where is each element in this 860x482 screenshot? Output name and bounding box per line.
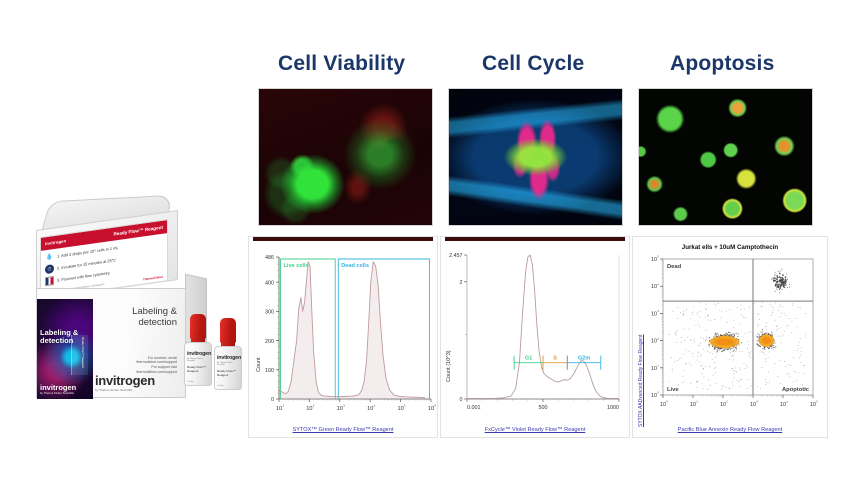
x-axis-label: Pacific Blue Annexin Ready Flow Reagent: [633, 427, 827, 433]
product-photo: invitrogen Ready Flow™ Reagent 💧 1. Add …: [18, 196, 246, 411]
svg-text:²: ²: [657, 336, 659, 341]
bottle-body: invitrogen by Thermo Fisher Scientific R…: [184, 342, 212, 386]
svg-text:10: 10: [337, 406, 343, 412]
svg-text:⁴: ⁴: [786, 400, 788, 405]
svg-text:10: 10: [651, 284, 657, 290]
svg-text:³: ³: [657, 309, 659, 314]
svg-text:G2m: G2m: [578, 356, 590, 362]
svg-text:300: 300: [265, 310, 274, 316]
svg-text:Dead cells: Dead cells: [341, 263, 369, 269]
svg-text:10: 10: [780, 402, 786, 408]
svg-text:0: 0: [271, 397, 274, 403]
dropper-icon: 💧: [45, 252, 54, 262]
bottle-brand: invitrogen: [187, 351, 209, 357]
viability-plot-canvas: 010020030040048610¹10²10³10⁴10⁵10⁶Live c…: [249, 237, 439, 439]
svg-text:Live cells: Live cells: [284, 263, 309, 269]
panel-title-cell-viability: Cell Viability: [278, 52, 405, 76]
box-cover-product-chip-text: Ready Flow™ Reagent: [81, 337, 85, 340]
svg-text:10: 10: [750, 402, 756, 408]
bottle-lot-text: Lot Exp: [217, 385, 224, 387]
svg-text:³: ³: [756, 400, 758, 405]
manufacturer-logo: ThermoFisher: [143, 275, 163, 282]
micrograph-edge-strip: [445, 237, 625, 241]
svg-text:10: 10: [660, 402, 666, 408]
svg-text:Live: Live: [667, 387, 679, 393]
clock-icon: ⏱: [45, 264, 54, 274]
box-front-brand-tagline: by Thermo Fisher Scientific: [95, 388, 155, 392]
svg-text:10: 10: [651, 311, 657, 317]
svg-text:²: ²: [726, 400, 728, 405]
svg-text:10: 10: [428, 406, 434, 412]
svg-text:10: 10: [367, 406, 373, 412]
svg-text:G1: G1: [525, 356, 532, 362]
svg-text:10: 10: [306, 406, 312, 412]
svg-text:⁵: ⁵: [404, 404, 406, 409]
plot-title: Jurkat ells + 10uM Camptothecin: [633, 244, 827, 251]
svg-text:500: 500: [539, 405, 548, 411]
bottle-brand-tagline: by Thermo Fisher Scientific: [187, 358, 209, 362]
svg-text:¹: ¹: [657, 364, 659, 369]
svg-text:10: 10: [397, 406, 403, 412]
bottle-cap: [220, 318, 236, 343]
svg-text:10: 10: [651, 366, 657, 372]
bottle-lot-text: Lot Exp: [187, 381, 194, 383]
svg-text:1000: 1000: [607, 405, 619, 411]
box-cover-product-chip: Ready Flow™ Reagent: [71, 335, 88, 375]
bottle-product-name: Ready Flow™ Reagent: [187, 365, 209, 373]
svg-text:0.001: 0.001: [467, 405, 481, 411]
svg-text:10: 10: [276, 406, 282, 412]
instruction-step-text: 3. Proceed with flow cytometry: [57, 271, 110, 283]
label-brand: invitrogen: [45, 238, 66, 246]
panel-title-apoptosis: Apoptosis: [670, 52, 774, 76]
bottle-brand: invitrogen: [217, 355, 239, 361]
cell-viability-histogram: Count 010020030040048610¹10²10³10⁴10⁵10⁶…: [248, 236, 438, 438]
cell-viability-micrograph: [258, 88, 433, 226]
y-axis-label: Count (10^3): [446, 350, 452, 382]
apoptosis-micrograph: [638, 88, 813, 226]
svg-text:⁶: ⁶: [434, 404, 436, 409]
box-cover-brand: invitrogen by Thermo Fisher Scientific: [40, 383, 76, 395]
svg-text:¹: ¹: [282, 404, 284, 409]
bottle-cap: [190, 314, 206, 339]
cell-cycle-micrograph: [448, 88, 623, 226]
apoptosis-dotplot: Jurkat ells + 10uM Camptothecin SYTOX AA…: [632, 236, 828, 438]
bottle-brand-tagline: by Thermo Fisher Scientific: [217, 362, 239, 366]
flow-cytometer-icon: [45, 276, 54, 286]
y-axis-label: SYTOX AADvanced Ready Flow Reagent: [638, 335, 644, 427]
y-axis-label: Count: [256, 357, 262, 372]
micrograph-edge-strip: [253, 237, 433, 241]
svg-text:2.457: 2.457: [449, 253, 463, 259]
dropper-bottle: invitrogen by Thermo Fisher Scientific R…: [214, 318, 242, 390]
svg-text:200: 200: [265, 339, 274, 345]
svg-text:486: 486: [265, 255, 274, 261]
svg-text:⁰: ⁰: [657, 391, 659, 396]
box-front-panel: Labeling & detection Ready Flow™ Reagent…: [36, 288, 186, 398]
svg-text:10: 10: [720, 402, 726, 408]
box-front-brand: invitrogen by Thermo Fisher Scientific: [95, 373, 155, 392]
bottle-body: invitrogen by Thermo Fisher Scientific R…: [214, 346, 242, 390]
dropper-bottle: invitrogen by Thermo Fisher Scientific R…: [184, 314, 212, 386]
cell-cycle-plot-canvas: 022.4570.0015001000G1SG2m: [441, 237, 631, 439]
svg-text:⁴: ⁴: [657, 282, 659, 287]
svg-text:10: 10: [651, 393, 657, 399]
svg-text:100: 100: [265, 368, 274, 374]
svg-text:⁵: ⁵: [816, 400, 818, 405]
cell-cycle-histogram: Count (10^3) 022.4570.0015001000G1SG2m F…: [440, 236, 630, 438]
svg-text:³: ³: [343, 404, 345, 409]
svg-text:⁵: ⁵: [657, 255, 659, 260]
product-application-figure: Cell Viability Cell Cycle Apoptosis invi…: [0, 0, 860, 482]
svg-text:⁴: ⁴: [373, 404, 375, 409]
svg-text:2: 2: [460, 280, 463, 286]
bottle-product-name: Ready Flow™ Reagent: [217, 369, 239, 377]
svg-text:10: 10: [690, 402, 696, 408]
svg-text:0: 0: [460, 397, 463, 403]
x-axis-label: FxCycle™ Violet Ready Flow™ Reagent: [441, 427, 629, 433]
svg-text:10: 10: [651, 257, 657, 263]
bottle-label: invitrogen by Thermo Fisher Scientific R…: [215, 347, 241, 377]
svg-text:¹: ¹: [696, 400, 698, 405]
box-cover-brand-tagline: by Thermo Fisher Scientific: [40, 392, 76, 395]
svg-text:10: 10: [810, 402, 816, 408]
svg-text:400: 400: [265, 280, 274, 286]
panel-title-cell-cycle: Cell Cycle: [482, 52, 584, 76]
svg-text:Dead: Dead: [667, 264, 682, 270]
apoptosis-plot-canvas: 10⁰10¹10²10³10⁴10⁵10⁰10¹10²10³10⁴10⁵Dead…: [633, 237, 829, 439]
svg-text:²: ²: [313, 404, 315, 409]
svg-text:⁰: ⁰: [666, 400, 668, 405]
x-axis-label: SYTOX™ Green Ready Flow™ Reagent: [249, 427, 437, 433]
box-cover-image: Labeling & detection Ready Flow™ Reagent…: [37, 299, 93, 399]
svg-text:10: 10: [651, 339, 657, 345]
box-front-heading: Labeling & detection: [132, 307, 177, 329]
svg-text:S: S: [553, 356, 557, 362]
bottle-label: invitrogen by Thermo Fisher Scientific R…: [185, 343, 211, 373]
